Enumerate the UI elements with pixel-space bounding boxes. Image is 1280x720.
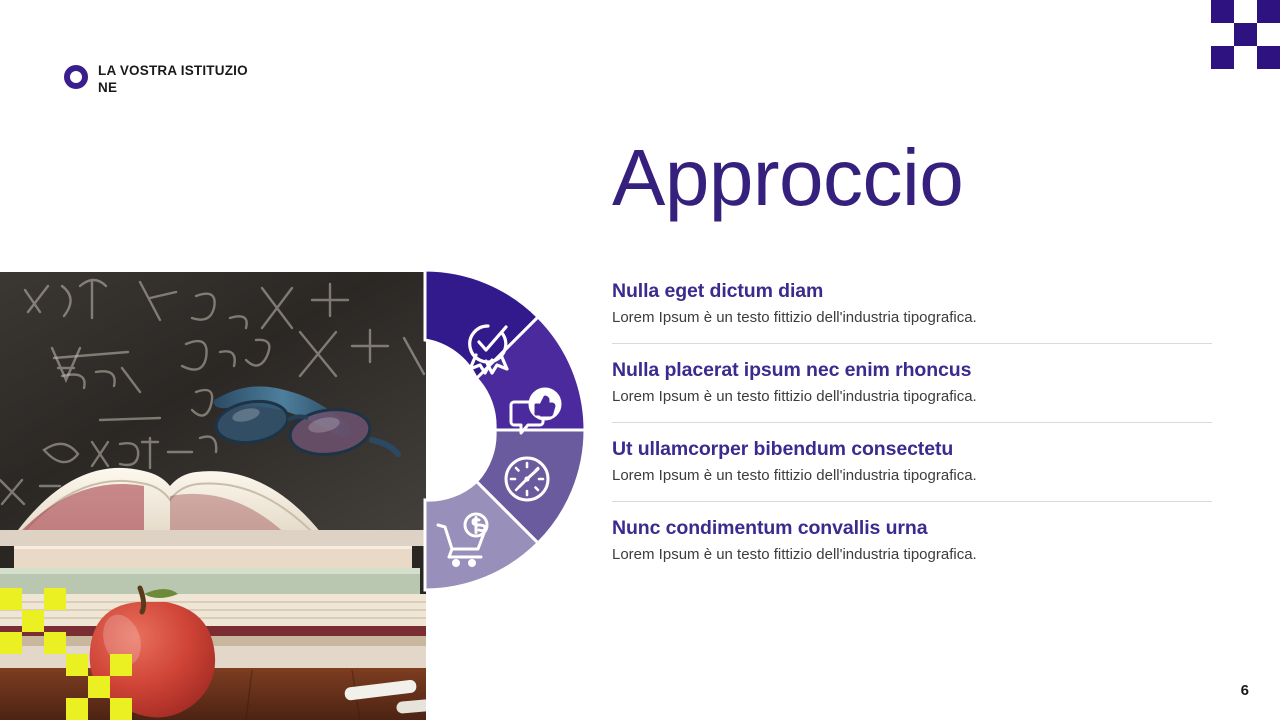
logo-text: LA VOSTRA ISTITUZIONE [98,62,248,96]
list-item-body: Lorem Ipsum è un testo fittizio dell'ind… [612,387,1212,407]
list-item-body: Lorem Ipsum è un testo fittizio dell'ind… [612,466,1212,486]
logo: LA VOSTRA ISTITUZIONE [64,62,248,96]
list-item-heading: Nulla eget dictum diam [612,279,1212,303]
page-number: 6 [1241,682,1249,699]
list-item-body: Lorem Ipsum è un testo fittizio dell'ind… [612,545,1212,565]
list-item-body: Lorem Ipsum è un testo fittizio dell'ind… [612,308,1212,328]
ring-icon [64,65,88,89]
list-item-heading: Nunc condimentum convallis urna [612,516,1212,540]
list-divider [612,343,1212,344]
list-item[interactable]: Ut ullamcorper bibendum consectetu Lorem… [612,437,1212,502]
list-item-heading: Nulla placerat ipsum nec enim rhoncus [612,358,1212,382]
list-divider [612,422,1212,423]
list-divider [612,501,1212,502]
slide-canvas: LA VOSTRA ISTITUZIONE [0,0,1280,720]
list-item[interactable]: Nulla placerat ipsum nec enim rhoncus Lo… [612,358,1212,423]
clock-compass-icon [506,458,548,500]
list-item[interactable]: Nunc condimentum convallis urna Lorem Ip… [612,516,1212,565]
approach-list: Nulla eget dictum diam Lorem Ipsum è un … [612,279,1212,565]
checker-pattern-top-right [1211,0,1280,69]
list-item-heading: Ut ullamcorper bibendum consectetu [612,437,1212,461]
donut-diagram [260,265,590,595]
list-item[interactable]: Nulla eget dictum diam Lorem Ipsum è un … [612,279,1212,344]
page-title: Approccio [612,138,963,218]
checker-pattern-bottom-left [0,588,140,720]
